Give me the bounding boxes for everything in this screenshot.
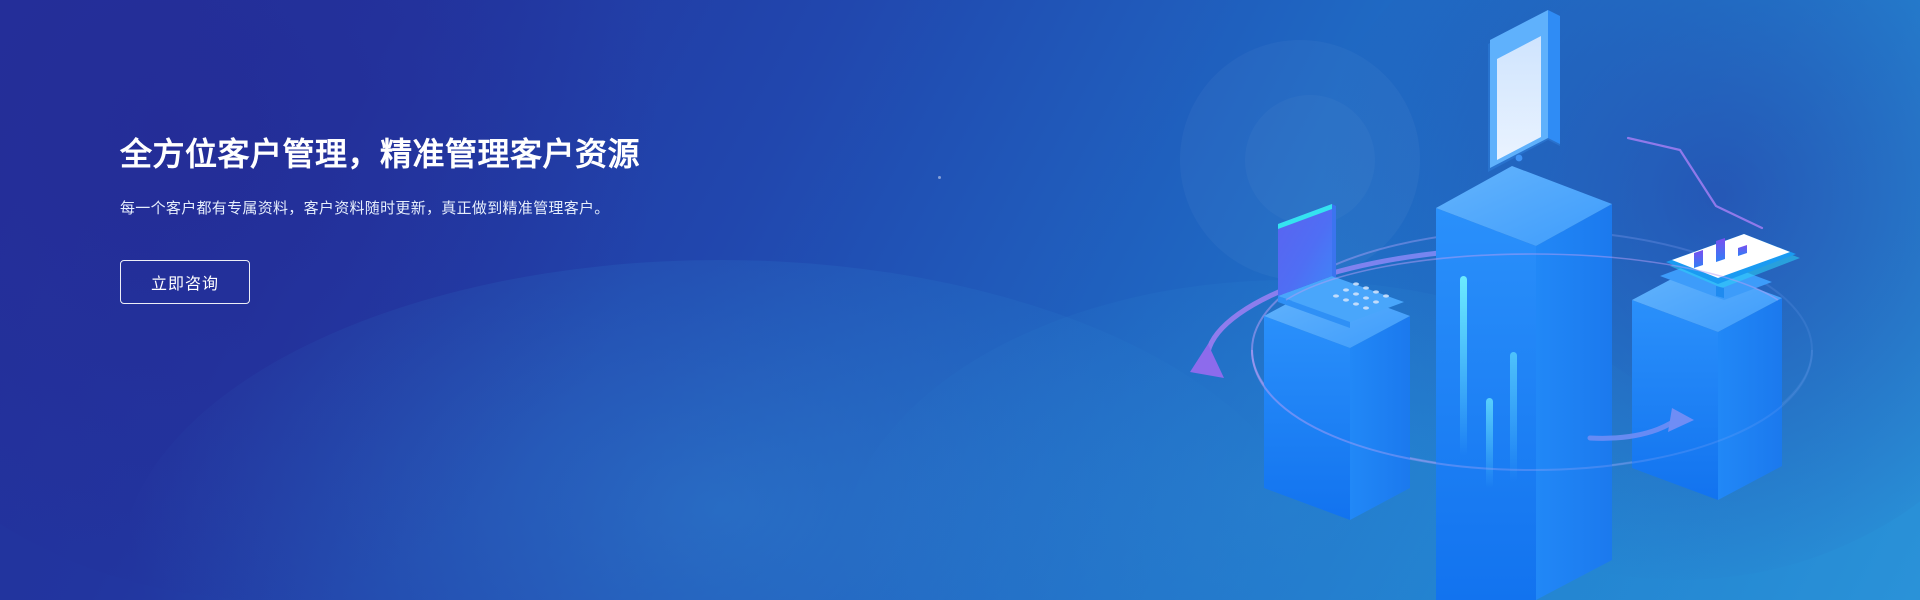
arc-arrow-left <box>1190 248 1532 378</box>
background-speck-dot <box>938 176 941 179</box>
background-circle-decoration <box>1180 40 1420 280</box>
page-title: 全方位客户管理，精准管理客户资源 <box>120 134 740 174</box>
laptop-icon <box>1278 204 1404 328</box>
background-glow-top-right <box>1300 0 1920 580</box>
orbit-ellipse-front <box>1252 254 1812 470</box>
pillar-glow-bars <box>1460 276 1517 488</box>
connector-line-polyline <box>1628 138 1762 228</box>
background-circle-decoration-small <box>1245 95 1375 225</box>
background-glow-bottom-right <box>840 280 1740 600</box>
orbit-ellipse-back <box>1252 230 1812 470</box>
center-pillar <box>1436 166 1612 600</box>
monitor-bar-chart <box>1694 238 1747 268</box>
consult-now-button[interactable]: 立即咨询 <box>120 260 250 304</box>
hero-illustration <box>1160 0 1920 600</box>
hero-banner: 全方位客户管理，精准管理客户资源 每一个客户都有专属资料，客户资料随时更新，真正… <box>0 0 1920 600</box>
right-pillar <box>1632 266 1782 500</box>
monitor-icon <box>1660 234 1800 300</box>
arc-arrow-right <box>1590 408 1694 438</box>
tablet-icon <box>1488 10 1560 172</box>
hero-subtitle: 每一个客户都有专属资料，客户资料随时更新，真正做到精准管理客户。 <box>120 196 610 222</box>
left-pillar <box>1264 284 1410 520</box>
hero-copy-block: 全方位客户管理，精准管理客户资源 每一个客户都有专属资料，客户资料随时更新，真正… <box>120 134 740 304</box>
background-glow-bottom-left <box>120 260 1320 600</box>
